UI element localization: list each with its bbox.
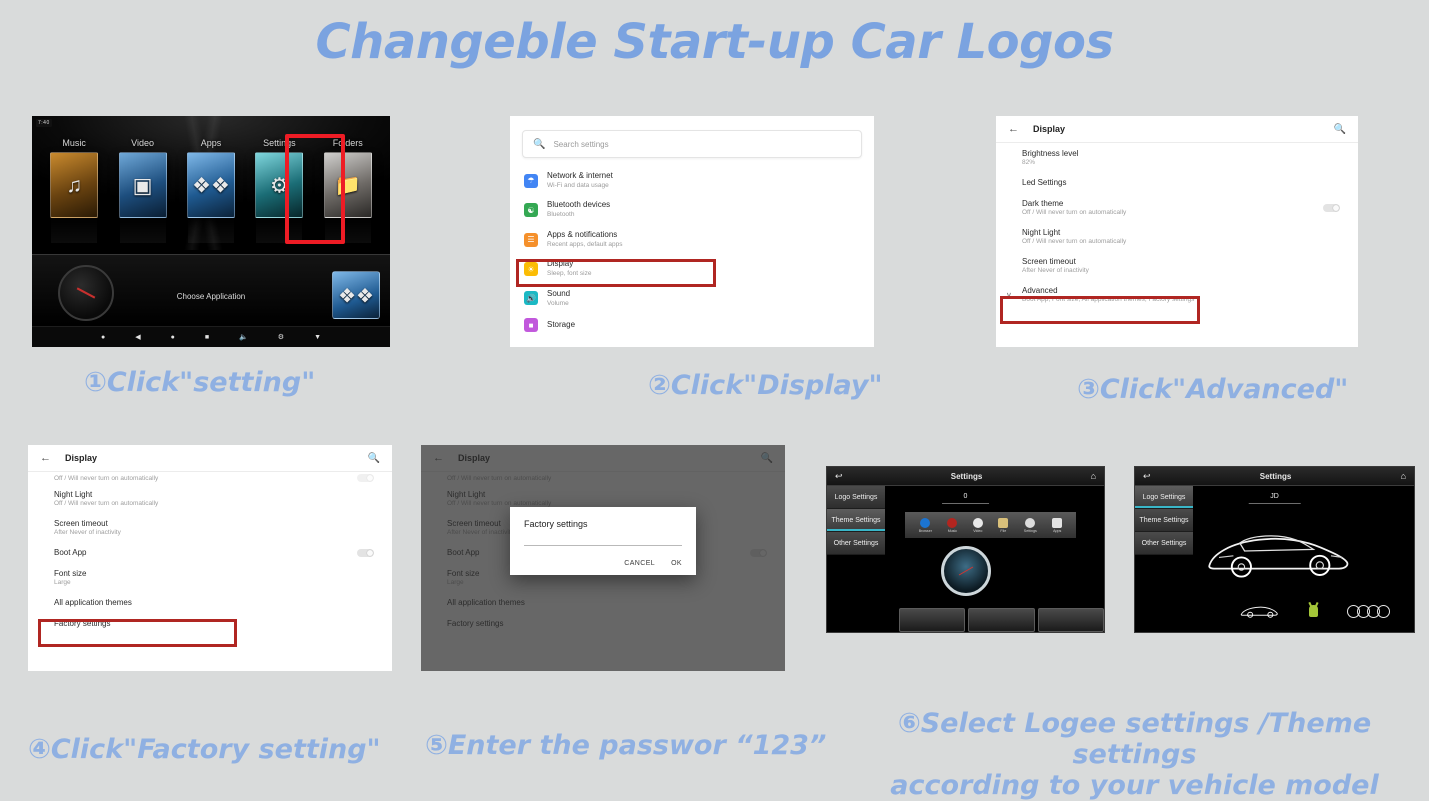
- boot-app-toggle[interactable]: [357, 549, 374, 557]
- poster-root: Changeble Start-up Car Logos 7:40 Music …: [0, 0, 1429, 800]
- row-advanced[interactable]: ∨ Advanced Boot App, Font size, All appl…: [996, 280, 1358, 309]
- gear-icon: [1025, 518, 1035, 528]
- item-title: Bluetooth devices: [547, 200, 610, 210]
- search-placeholder: Search settings: [553, 140, 608, 149]
- video-tile[interactable]: ▣: [119, 152, 167, 218]
- row-title: Night Light: [1022, 228, 1344, 237]
- logo-settings-body: Logo Settings Theme Settings Other Setti…: [1135, 486, 1414, 634]
- thumbnail-sports-car[interactable]: [1238, 602, 1280, 620]
- bluetooth-icon: ☯: [524, 203, 538, 217]
- search-icon[interactable]: 🔍: [1334, 124, 1346, 135]
- page-title: Display: [65, 453, 354, 463]
- item-title: Sound: [547, 289, 570, 299]
- row-boot-app[interactable]: Boot App: [28, 542, 392, 563]
- sports-car-icon: [1238, 602, 1280, 620]
- screenshot-settings-list: 🔍 Search settings ☂ Network & internet W…: [510, 116, 874, 347]
- row-title: Factory settings: [54, 619, 378, 628]
- gear-icon[interactable]: ⚙: [278, 334, 284, 341]
- row-subtitle: After Never of inactivity: [54, 529, 378, 536]
- row-subtitle: After Never of inactivity: [1022, 267, 1344, 274]
- thumbnail-android[interactable]: [1309, 605, 1318, 617]
- strip-app-video[interactable]: Video: [973, 518, 983, 533]
- screenshot-theme-settings: ↩ Settings ⌂ Logo Settings Theme Setting…: [826, 466, 1105, 633]
- page-title: Display: [1033, 124, 1320, 134]
- settings-item-sound[interactable]: 🔊 Sound Volume: [510, 284, 874, 313]
- screenshot-password-dialog: ← Display 🔍 Off / Will never turn on aut…: [421, 445, 785, 671]
- sound-icon: 🔊: [524, 291, 538, 305]
- strip-app-file[interactable]: File: [998, 518, 1008, 533]
- theme-settings-tabs: Logo Settings Theme Settings Other Setti…: [827, 486, 885, 555]
- display-icon: ☀: [524, 262, 538, 276]
- search-icon[interactable]: 🔍: [368, 453, 380, 464]
- dash-preview-2[interactable]: [968, 608, 1034, 632]
- sports-car-logo-preview: [1195, 518, 1355, 584]
- app-label: Video: [973, 529, 983, 533]
- tab-logo-settings[interactable]: Logo Settings: [1135, 486, 1193, 509]
- row-subtitle: Boot App, Font size, All application the…: [1022, 296, 1344, 303]
- app-label: Music: [947, 529, 957, 533]
- theme-settings-body: Logo Settings Theme Settings Other Setti…: [827, 486, 1104, 634]
- row-dark-theme-partial[interactable]: Off / Will never turn on automatically: [28, 472, 392, 484]
- strip-app-browser[interactable]: Browser: [919, 518, 932, 533]
- back-icon[interactable]: ◀: [135, 334, 140, 341]
- display-header: ← Display 🔍: [996, 116, 1358, 143]
- dialog-buttons: CANCEL OK: [524, 560, 682, 567]
- tab-logo-settings[interactable]: Logo Settings: [827, 486, 885, 509]
- tab-other-settings[interactable]: Other Settings: [1135, 532, 1193, 555]
- music-tile[interactable]: ♫: [50, 152, 98, 218]
- theme-gauge-preview: [941, 546, 991, 596]
- theme-dash-previews: [899, 606, 1104, 632]
- app-label: Music: [46, 138, 102, 148]
- strip-app-settings[interactable]: Settings: [1024, 518, 1037, 533]
- dash-preview-1[interactable]: [899, 608, 965, 632]
- apps-shortcut-button[interactable]: ❖❖: [332, 271, 380, 319]
- android-robot-icon: [1309, 605, 1318, 617]
- home-icon[interactable]: ⌂: [1401, 471, 1406, 481]
- screenshot-logo-settings: ↩ Settings ⌂ Logo Settings Theme Setting…: [1134, 466, 1415, 633]
- settings-highlight-box: [285, 134, 345, 244]
- factory-settings-dialog: Factory settings CANCEL OK: [510, 507, 696, 575]
- settings-item-display[interactable]: ☀ Display Sleep, font size: [510, 254, 874, 283]
- volume-icon[interactable]: 🔈: [239, 334, 248, 341]
- row-title: Brightness level: [1022, 149, 1344, 158]
- row-subtitle: Off / Will never turn on automatically: [1022, 238, 1344, 245]
- caption-step-1: ①Click"setting": [84, 367, 315, 398]
- list-fade: [510, 331, 874, 347]
- apps-grid-icon: [1052, 518, 1062, 528]
- head-unit-app-video[interactable]: Video ▣: [115, 138, 171, 218]
- back-arrow-icon[interactable]: ←: [1008, 123, 1019, 135]
- row-screen-timeout[interactable]: Screen timeout After Never of inactivity: [996, 251, 1358, 280]
- row-dark-theme[interactable]: Dark theme Off / Will never turn on auto…: [996, 193, 1358, 222]
- item-subtitle: Recent apps, default apps: [547, 241, 623, 249]
- item-subtitle: Bluetooth: [547, 211, 610, 219]
- row-subtitle: Off / Will never turn on automatically: [1022, 209, 1344, 216]
- dialog-title: Factory settings: [524, 519, 682, 529]
- row-all-application-themes[interactable]: All application themes: [28, 592, 392, 613]
- item-title: Storage: [547, 320, 575, 330]
- video-icon: ▣: [133, 174, 153, 199]
- settings-item-bluetooth[interactable]: ☯ Bluetooth devices Bluetooth: [510, 195, 874, 224]
- row-subtitle: Large: [54, 579, 378, 586]
- row-title: Font size: [54, 569, 378, 578]
- status-clock: 7:40: [36, 119, 52, 127]
- app-label: Apps: [183, 138, 239, 148]
- item-title: Network & internet: [547, 171, 613, 181]
- row-title: Boot App: [54, 548, 378, 557]
- display-header: ← Display 🔍: [28, 445, 392, 472]
- theme-settings-header: ↩ Settings ⌂: [827, 467, 1104, 486]
- caption-step-2: ②Click"Display": [648, 370, 883, 401]
- item-subtitle: Wi-Fi and data usage: [547, 182, 613, 190]
- page-title: Settings: [1151, 472, 1401, 481]
- row-subtitle: Off / Will never turn on automatically: [54, 500, 378, 507]
- screenshot-head-unit-home: 7:40 Music ♫ Video ▣ Apps ❖❖: [32, 116, 390, 347]
- audi-rings-icon: [1347, 605, 1390, 618]
- folder-icon: [998, 518, 1008, 528]
- back-arrow-icon[interactable]: ←: [40, 452, 51, 464]
- head-unit-app-apps[interactable]: Apps ❖❖: [183, 138, 239, 218]
- screenshot-display-advanced: ← Display 🔍 Brightness level 82% Led Set…: [996, 116, 1358, 347]
- preview-label: 0: [942, 493, 990, 504]
- dark-theme-toggle[interactable]: [357, 474, 374, 482]
- password-input[interactable]: [524, 545, 682, 546]
- cancel-button[interactable]: CANCEL: [624, 560, 655, 567]
- row-title: Led Settings: [1022, 178, 1344, 187]
- theme-app-strip: Browser Music Video File Settings: [905, 512, 1076, 538]
- item-subtitle: Sleep, font size: [547, 270, 591, 278]
- caption-step-6-line-1: ⑥Select Logee settings /Theme settings: [898, 708, 1371, 770]
- page-title: Settings: [843, 472, 1091, 481]
- stop-icon[interactable]: ■: [205, 334, 209, 341]
- settings-item-list: ☂ Network & internet Wi-Fi and data usag…: [510, 164, 874, 337]
- search-settings-bar[interactable]: 🔍 Search settings: [522, 130, 862, 158]
- caption-step-4: ④Click"Factory setting": [28, 734, 381, 765]
- row-title: Screen timeout: [54, 519, 378, 528]
- apps-grid-icon: ❖❖: [192, 174, 230, 199]
- head-unit-app-music[interactable]: Music ♫: [46, 138, 102, 218]
- dash-preview-3[interactable]: [1038, 608, 1104, 632]
- logo-settings-tabs: Logo Settings Theme Settings Other Setti…: [1135, 486, 1193, 555]
- dot-icon[interactable]: ●: [101, 334, 105, 341]
- row-title: Advanced: [1022, 286, 1344, 295]
- logo-settings-header: ↩ Settings ⌂: [1135, 467, 1414, 486]
- browser-icon: [920, 518, 930, 528]
- row-subtitle: Off / Will never turn on automatically: [54, 475, 378, 482]
- head-unit-nav-bar[interactable]: ● ◀ ● ■ 🔈 ⚙ ▼: [32, 326, 390, 347]
- apps-grid-icon: ❖❖: [338, 283, 374, 308]
- back-arrow-icon[interactable]: ↩: [835, 471, 843, 482]
- tab-theme-settings[interactable]: Theme Settings: [1135, 509, 1193, 532]
- settings-item-apps[interactable]: ☰ Apps & notifications Recent apps, defa…: [510, 225, 874, 254]
- screenshot-display-factory: ← Display 🔍 Off / Will never turn on aut…: [28, 445, 392, 671]
- app-label: Video: [115, 138, 171, 148]
- chevron-down-icon[interactable]: ▼: [314, 334, 321, 341]
- row-night-light[interactable]: Night Light Off / Will never turn on aut…: [996, 222, 1358, 251]
- preview-label: JD: [1248, 493, 1301, 504]
- music-note-icon: ♫: [66, 174, 82, 198]
- back-arrow-icon[interactable]: ↩: [1143, 471, 1151, 482]
- wifi-icon: ☂: [524, 174, 538, 188]
- home-icon[interactable]: ⌂: [1091, 471, 1096, 481]
- ok-button[interactable]: OK: [671, 560, 682, 567]
- thumbnail-audi[interactable]: [1347, 605, 1390, 618]
- row-factory-settings[interactable]: Factory settings: [28, 613, 392, 634]
- tab-other-settings[interactable]: Other Settings: [827, 532, 885, 555]
- item-subtitle: Volume: [547, 300, 570, 308]
- row-title: Night Light: [54, 490, 378, 499]
- row-font-size[interactable]: Font size Large: [28, 563, 392, 592]
- item-title: Display: [547, 259, 591, 269]
- music-icon: [947, 518, 957, 528]
- row-title: Dark theme: [1022, 199, 1344, 208]
- item-title: Apps & notifications: [547, 230, 623, 240]
- row-subtitle: 82%: [1022, 159, 1344, 166]
- caption-step-5: ⑤Enter the passwor “123”: [425, 730, 826, 761]
- search-icon: 🔍: [533, 139, 545, 150]
- apps-icon: ☰: [524, 233, 538, 247]
- dot-icon[interactable]: ●: [171, 334, 175, 341]
- strip-app-music[interactable]: Music: [947, 518, 957, 533]
- row-night-light[interactable]: Night Light Off / Will never turn on aut…: [28, 484, 392, 513]
- row-screen-timeout[interactable]: Screen timeout After Never of inactivity: [28, 513, 392, 542]
- row-title: All application themes: [54, 598, 378, 607]
- page-title: Changeble Start-up Car Logos: [0, 14, 1429, 70]
- video-icon: [973, 518, 983, 528]
- settings-item-network[interactable]: ☂ Network & internet Wi-Fi and data usag…: [510, 166, 874, 195]
- row-brightness-level[interactable]: Brightness level 82%: [996, 143, 1358, 172]
- tab-theme-settings[interactable]: Theme Settings: [827, 509, 885, 532]
- caption-step-6: ⑥Select Logee settings /Theme settings a…: [840, 708, 1429, 801]
- apps-tile[interactable]: ❖❖: [187, 152, 235, 218]
- caption-step-3: ③Click"Advanced": [1077, 374, 1348, 405]
- chevron-down-icon: ∨: [1006, 290, 1012, 299]
- app-label: File: [998, 529, 1008, 533]
- app-label: Browser: [919, 529, 932, 533]
- app-label: Settings: [1024, 529, 1037, 533]
- dark-theme-toggle[interactable]: [1323, 204, 1340, 212]
- row-title: Screen timeout: [1022, 257, 1344, 266]
- caption-step-6-line-2: according to your vehicle model: [890, 770, 1379, 801]
- row-led-settings[interactable]: Led Settings: [996, 172, 1358, 193]
- logo-thumbnail-row: [1223, 600, 1404, 622]
- app-label: Apps: [1052, 529, 1062, 533]
- strip-app-apps[interactable]: Apps: [1052, 518, 1062, 533]
